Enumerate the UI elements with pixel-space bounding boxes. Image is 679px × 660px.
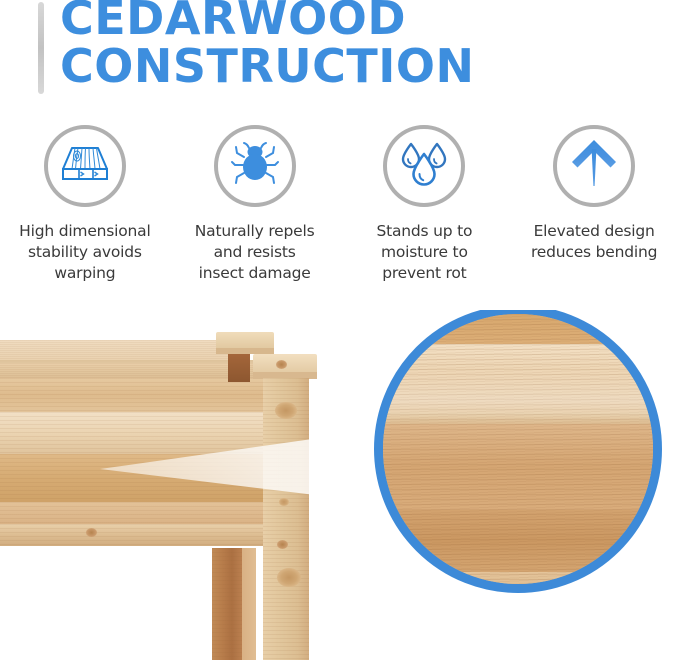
- feature-label: Elevated design reduces bending: [531, 221, 657, 263]
- wood-grain-magnifier: [374, 310, 662, 593]
- bug-icon: [230, 141, 280, 192]
- feature-item-insect: Naturally repels and resists insect dama…: [170, 125, 340, 300]
- corner-post: [263, 378, 309, 660]
- feature-list: High dimensional stability avoids warpin…: [0, 125, 679, 300]
- wood-plank-icon: [59, 144, 111, 189]
- page-title: CEDARWOOD CONSTRUCTION: [60, 0, 475, 90]
- title-accent-bar: [38, 2, 44, 94]
- feature-icon-circle: [553, 125, 635, 207]
- feature-item-moisture: Stands up to moisture to prevent rot: [340, 125, 510, 300]
- feature-icon-circle: [44, 125, 126, 207]
- product-photo: [0, 310, 679, 660]
- feature-label: Naturally repels and resists insect dama…: [195, 221, 315, 284]
- feature-icon-circle: [383, 125, 465, 207]
- header: CEDARWOOD CONSTRUCTION: [0, 0, 679, 110]
- feature-label: Stands up to moisture to prevent rot: [376, 221, 472, 284]
- feature-label: High dimensional stability avoids warpin…: [19, 221, 150, 284]
- feature-item-elevated: Elevated design reduces bending: [509, 125, 679, 300]
- water-droplets-icon: [398, 140, 450, 193]
- up-arrow-icon: [569, 138, 619, 195]
- feature-icon-circle: [214, 125, 296, 207]
- title-line-2: CONSTRUCTION: [60, 42, 475, 90]
- bed-leg-inner: [212, 548, 242, 660]
- title-line-1: CEDARWOOD: [60, 0, 475, 42]
- feature-item-stability: High dimensional stability avoids warpin…: [0, 125, 170, 300]
